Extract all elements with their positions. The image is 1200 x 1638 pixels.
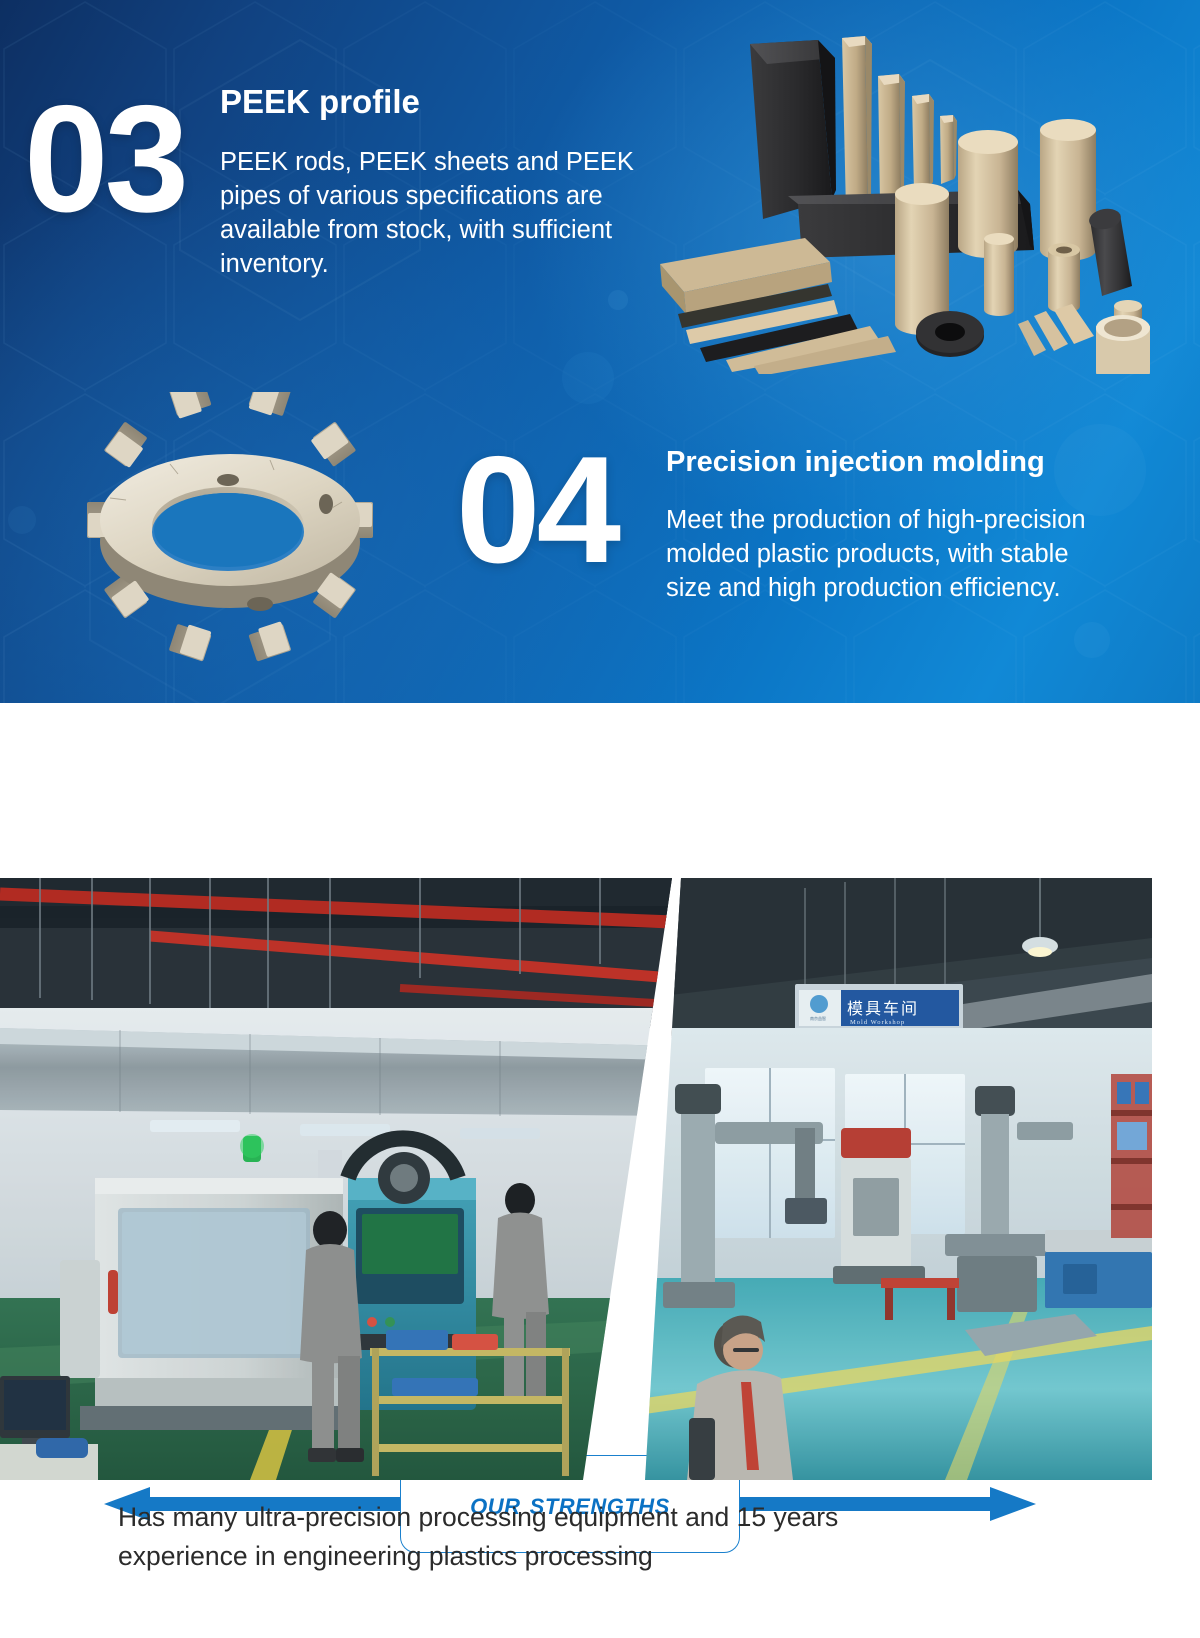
caption-line-2: experience in engineering plastics proce… [118,1537,1118,1576]
cnc-workshop-photo [0,878,672,1480]
our-strengths-band: Our strengths [0,703,1200,878]
block-title-04: Precision injection molding [666,446,1045,479]
block-body-03: PEEK rods, PEEK sheets and PEEK pipes of… [220,145,660,282]
caption-line-1: Has many ultra-precision processing equi… [118,1498,1118,1537]
peek-profiles-image [620,14,1190,374]
bottom-caption: Has many ultra-precision processing equi… [118,1498,1118,1576]
block-title-03: PEEK profile [220,83,420,121]
page-root: 03 PEEK profile PEEK rods, PEEK sheets a… [0,0,1200,1638]
hero-section: 03 PEEK profile PEEK rods, PEEK sheets a… [0,0,1200,703]
block-body-04: Meet the production of high-precision mo… [666,503,1096,605]
peek-gear-ring-image [30,392,430,664]
block-number-04: 04 [456,434,617,586]
mold-workshop-photo: 模具车间 Mold Workshop 南京益智 [645,878,1152,1480]
block-number-03: 03 [24,83,185,235]
factory-photo-strip: 模具车间 Mold Workshop 南京益智 [0,878,1152,1480]
